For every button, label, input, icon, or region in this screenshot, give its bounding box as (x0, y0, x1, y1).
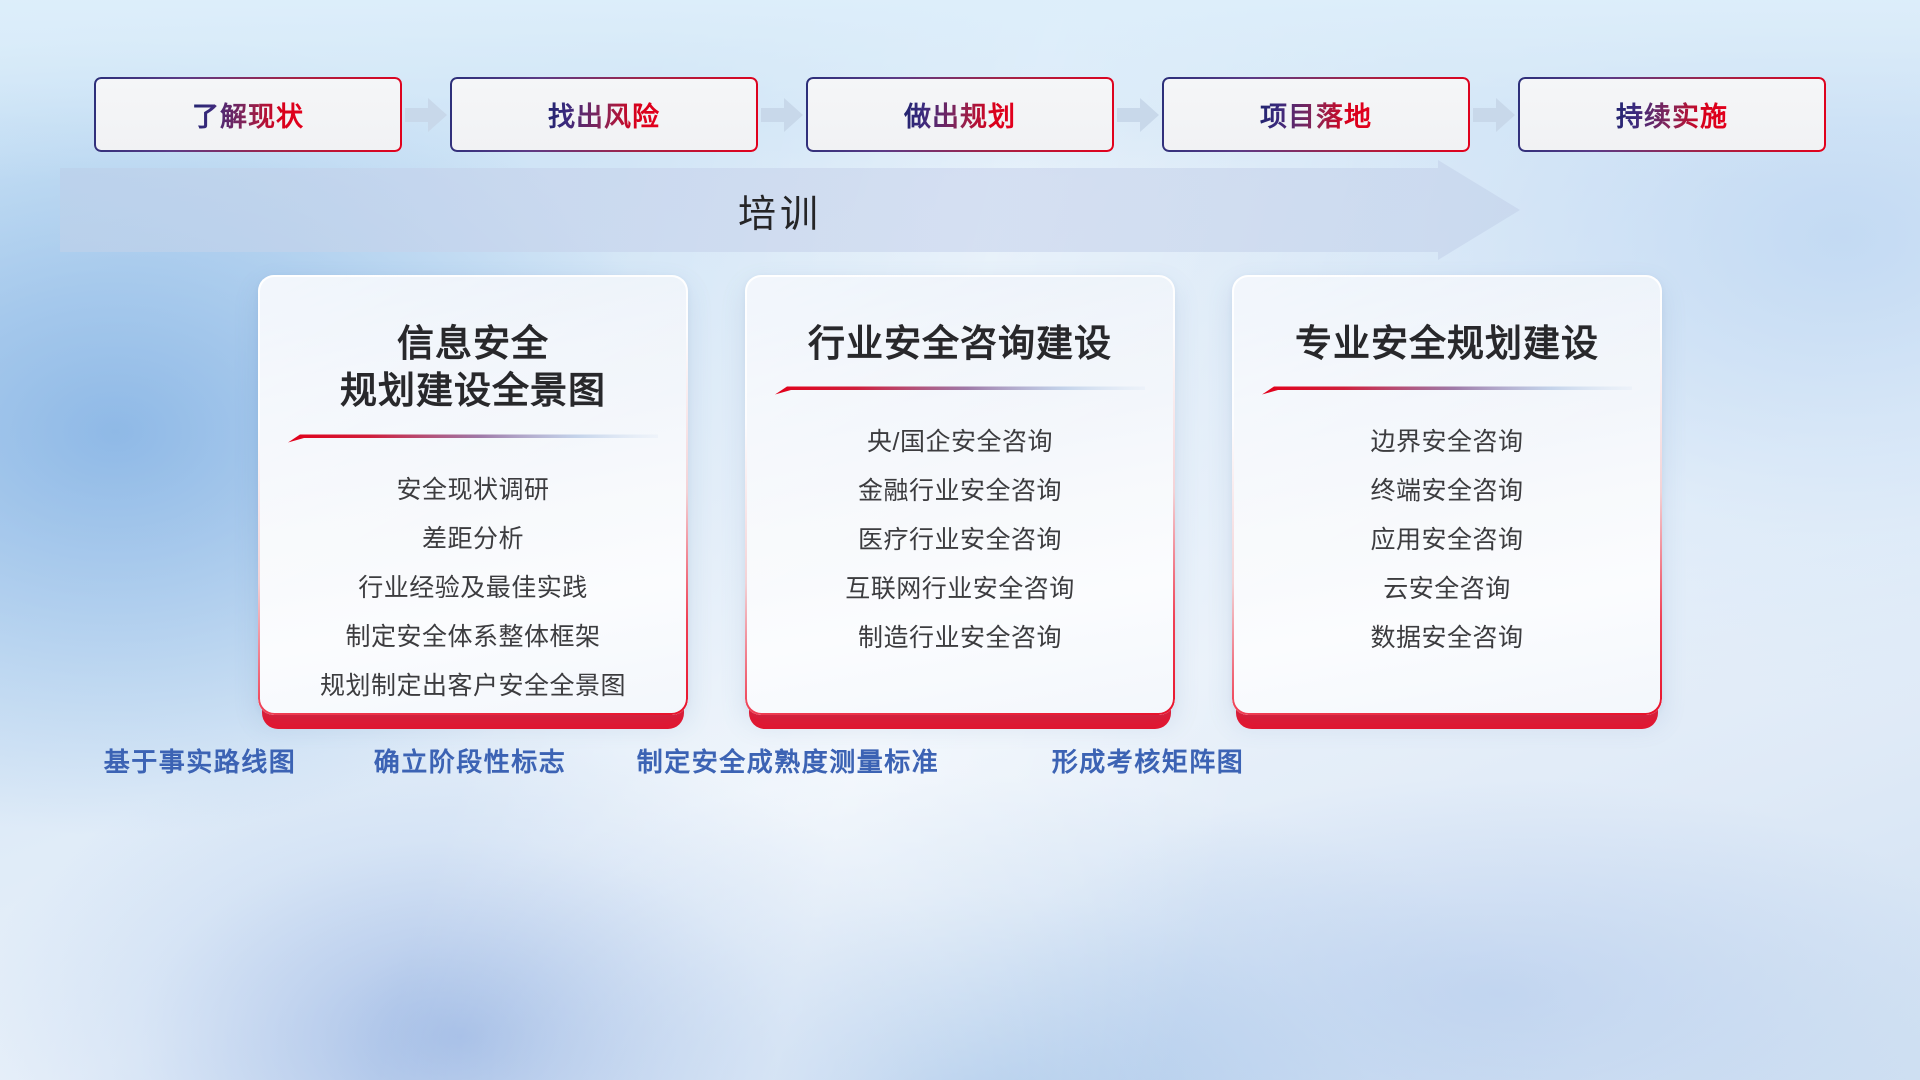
training-banner: 培训 (60, 160, 1520, 260)
card-title-3: 专业安全规划建设 (1295, 320, 1599, 367)
footer-label-4: 形成考核矩阵图 (1052, 742, 1245, 779)
footer-label-3: 制定安全成熟度测量标准 (637, 742, 940, 779)
card-list-1: 安全现状调研差距分析行业经验及最佳实践制定安全体系整体框架规划制定出客户安全全景… (320, 470, 626, 702)
card-divider-1 (288, 433, 658, 444)
card-title-line: 行业安全咨询建设 (808, 320, 1112, 367)
footer-label-2: 确立阶段性标志 (374, 742, 567, 779)
step-box-3[interactable]: 做出规划 (806, 77, 1114, 152)
step-arrow-icon-2 (758, 77, 806, 152)
card-list-item[interactable]: 数据安全咨询 (1370, 618, 1523, 654)
card-list-item[interactable]: 应用安全咨询 (1370, 520, 1523, 556)
card-list-item[interactable]: 金融行业安全咨询 (858, 471, 1062, 507)
step-box-2[interactable]: 找出风险 (450, 77, 758, 152)
card-wrapper-2: 行业安全咨询建设央/国企安全咨询金融行业安全咨询医疗行业安全咨询互联网行业安全咨… (745, 275, 1175, 715)
card-list-item[interactable]: 互联网行业安全咨询 (845, 569, 1075, 605)
card-list-item[interactable]: 规划制定出客户安全全景图 (320, 666, 626, 702)
card-list-item[interactable]: 央/国企安全咨询 (867, 422, 1053, 458)
footer-label-1: 基于事实路线图 (104, 742, 297, 779)
card-list-item[interactable]: 制定安全体系整体框架 (345, 617, 600, 653)
card-title-1: 信息安全规划建设全景图 (340, 320, 606, 415)
card-list-item[interactable]: 云安全咨询 (1383, 569, 1511, 605)
card-inner-3: 专业安全规划建设边界安全咨询终端安全咨询应用安全咨询云安全咨询数据安全咨询 (1232, 275, 1662, 715)
step-box-5[interactable]: 持续实施 (1518, 77, 1826, 152)
card-title-line: 信息安全 (340, 320, 606, 367)
training-banner-label: 培训 (60, 160, 1500, 260)
process-step-row: 了解现状找出风险做出规划项目落地持续实施 (0, 77, 1920, 152)
card-title-line: 规划建设全景图 (340, 367, 606, 414)
card-divider-3 (1262, 385, 1632, 396)
card-row: 信息安全规划建设全景图安全现状调研差距分析行业经验及最佳实践制定安全体系整体框架… (0, 275, 1920, 715)
step-label-1: 了解现状 (192, 95, 304, 134)
card-list-item[interactable]: 医疗行业安全咨询 (858, 520, 1062, 556)
card-divider-2 (775, 385, 1145, 396)
card-list-item[interactable]: 行业经验及最佳实践 (358, 568, 588, 604)
card-list-item[interactable]: 安全现状调研 (396, 470, 549, 506)
card-list-2: 央/国企安全咨询金融行业安全咨询医疗行业安全咨询互联网行业安全咨询制造行业安全咨… (845, 422, 1075, 654)
step-arrow-icon-4 (1470, 77, 1518, 152)
step-box-1[interactable]: 了解现状 (94, 77, 402, 152)
service-card-2[interactable]: 行业安全咨询建设央/国企安全咨询金融行业安全咨询医疗行业安全咨询互联网行业安全咨… (745, 275, 1175, 715)
step-arrow-icon-3 (1114, 77, 1162, 152)
card-inner-1: 信息安全规划建设全景图安全现状调研差距分析行业经验及最佳实践制定安全体系整体框架… (258, 275, 688, 715)
step-box-4[interactable]: 项目落地 (1162, 77, 1470, 152)
footer-label-row: 基于事实路线图确立阶段性标志制定安全成熟度测量标准形成考核矩阵图 (0, 742, 1920, 790)
card-title-line: 专业安全规划建设 (1295, 320, 1599, 367)
step-label-4: 项目落地 (1260, 95, 1372, 134)
step-label-2: 找出风险 (548, 95, 660, 134)
service-card-1[interactable]: 信息安全规划建设全景图安全现状调研差距分析行业经验及最佳实践制定安全体系整体框架… (258, 275, 688, 715)
step-label-5: 持续实施 (1616, 95, 1728, 134)
card-list-item[interactable]: 终端安全咨询 (1370, 471, 1523, 507)
card-title-2: 行业安全咨询建设 (808, 320, 1112, 367)
step-arrow-icon-1 (402, 77, 450, 152)
card-inner-2: 行业安全咨询建设央/国企安全咨询金融行业安全咨询医疗行业安全咨询互联网行业安全咨… (745, 275, 1175, 715)
card-list-item[interactable]: 制造行业安全咨询 (858, 618, 1062, 654)
card-list-item[interactable]: 差距分析 (422, 519, 524, 555)
card-wrapper-1: 信息安全规划建设全景图安全现状调研差距分析行业经验及最佳实践制定安全体系整体框架… (258, 275, 688, 715)
card-list-item[interactable]: 边界安全咨询 (1370, 422, 1523, 458)
card-wrapper-3: 专业安全规划建设边界安全咨询终端安全咨询应用安全咨询云安全咨询数据安全咨询 (1232, 275, 1662, 715)
step-label-3: 做出规划 (904, 95, 1016, 134)
service-card-3[interactable]: 专业安全规划建设边界安全咨询终端安全咨询应用安全咨询云安全咨询数据安全咨询 (1232, 275, 1662, 715)
card-list-3: 边界安全咨询终端安全咨询应用安全咨询云安全咨询数据安全咨询 (1370, 422, 1523, 654)
